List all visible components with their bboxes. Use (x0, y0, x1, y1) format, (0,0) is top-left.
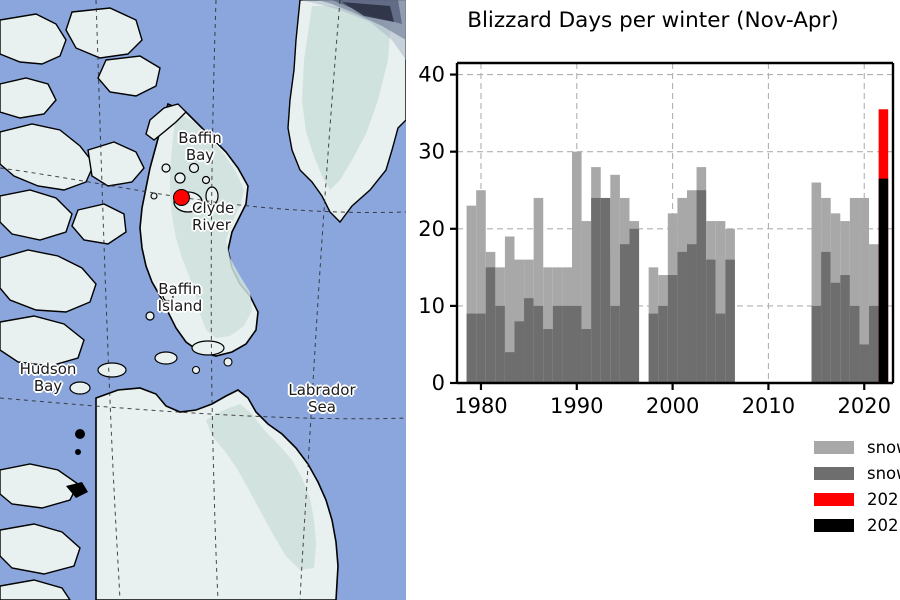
svg-text:20: 20 (418, 217, 445, 241)
bar-chart-svg: 01020304019801990200020102020 (406, 0, 900, 420)
legend-swatch-snow-high-winds-low-vis (814, 467, 854, 480)
chart-legend: snow + high winds snow + high winds + lo… (814, 434, 900, 538)
legend-label-snow-high-winds: snow + high winds (867, 438, 900, 457)
legend-swatch-2021-2022-low-vis (814, 519, 854, 532)
legend-label-snow-high-winds-low-vis: snow + high winds + low visiblity (867, 464, 900, 483)
legend-item-2021-2022-low-vis: 2021-2022, snow + high winds + low visib… (814, 512, 900, 538)
legend-item-snow-high-winds-low-vis: snow + high winds + low visiblity (814, 460, 900, 486)
map-panel: Baffin Bay Clyde River Baffin Island Hud… (0, 0, 407, 600)
legend-label-2021-2022-snow-high-winds: 2021-2022, snow + high winds (867, 490, 900, 509)
legend-item-snow-high-winds: snow + high winds (814, 434, 900, 460)
legend-swatch-snow-high-winds (814, 441, 854, 454)
plot-area: 01020304019801990200020102020 (406, 0, 900, 420)
figure-root: Baffin Bay Clyde River Baffin Island Hud… (0, 0, 900, 600)
svg-text:30: 30 (418, 140, 445, 164)
legend-label-2021-2022-low-vis: 2021-2022, snow + high winds + low visib… (867, 516, 900, 535)
svg-text:1980: 1980 (454, 394, 507, 418)
map-graphic (0, 0, 406, 600)
svg-text:2000: 2000 (646, 394, 699, 418)
legend-item-2021-2022-snow-high-winds: 2021-2022, snow + high winds (814, 486, 900, 512)
svg-text:1990: 1990 (550, 394, 603, 418)
svg-text:0: 0 (432, 371, 445, 395)
svg-text:10: 10 (418, 294, 445, 318)
legend-swatch-2021-2022-snow-high-winds (814, 493, 854, 506)
svg-text:2010: 2010 (742, 394, 795, 418)
chart-panel: Blizzard Days per winter (Nov-Apr) 01020… (406, 0, 900, 600)
svg-text:40: 40 (418, 63, 445, 87)
svg-text:2020: 2020 (838, 394, 891, 418)
clyde-river-marker (173, 189, 190, 206)
